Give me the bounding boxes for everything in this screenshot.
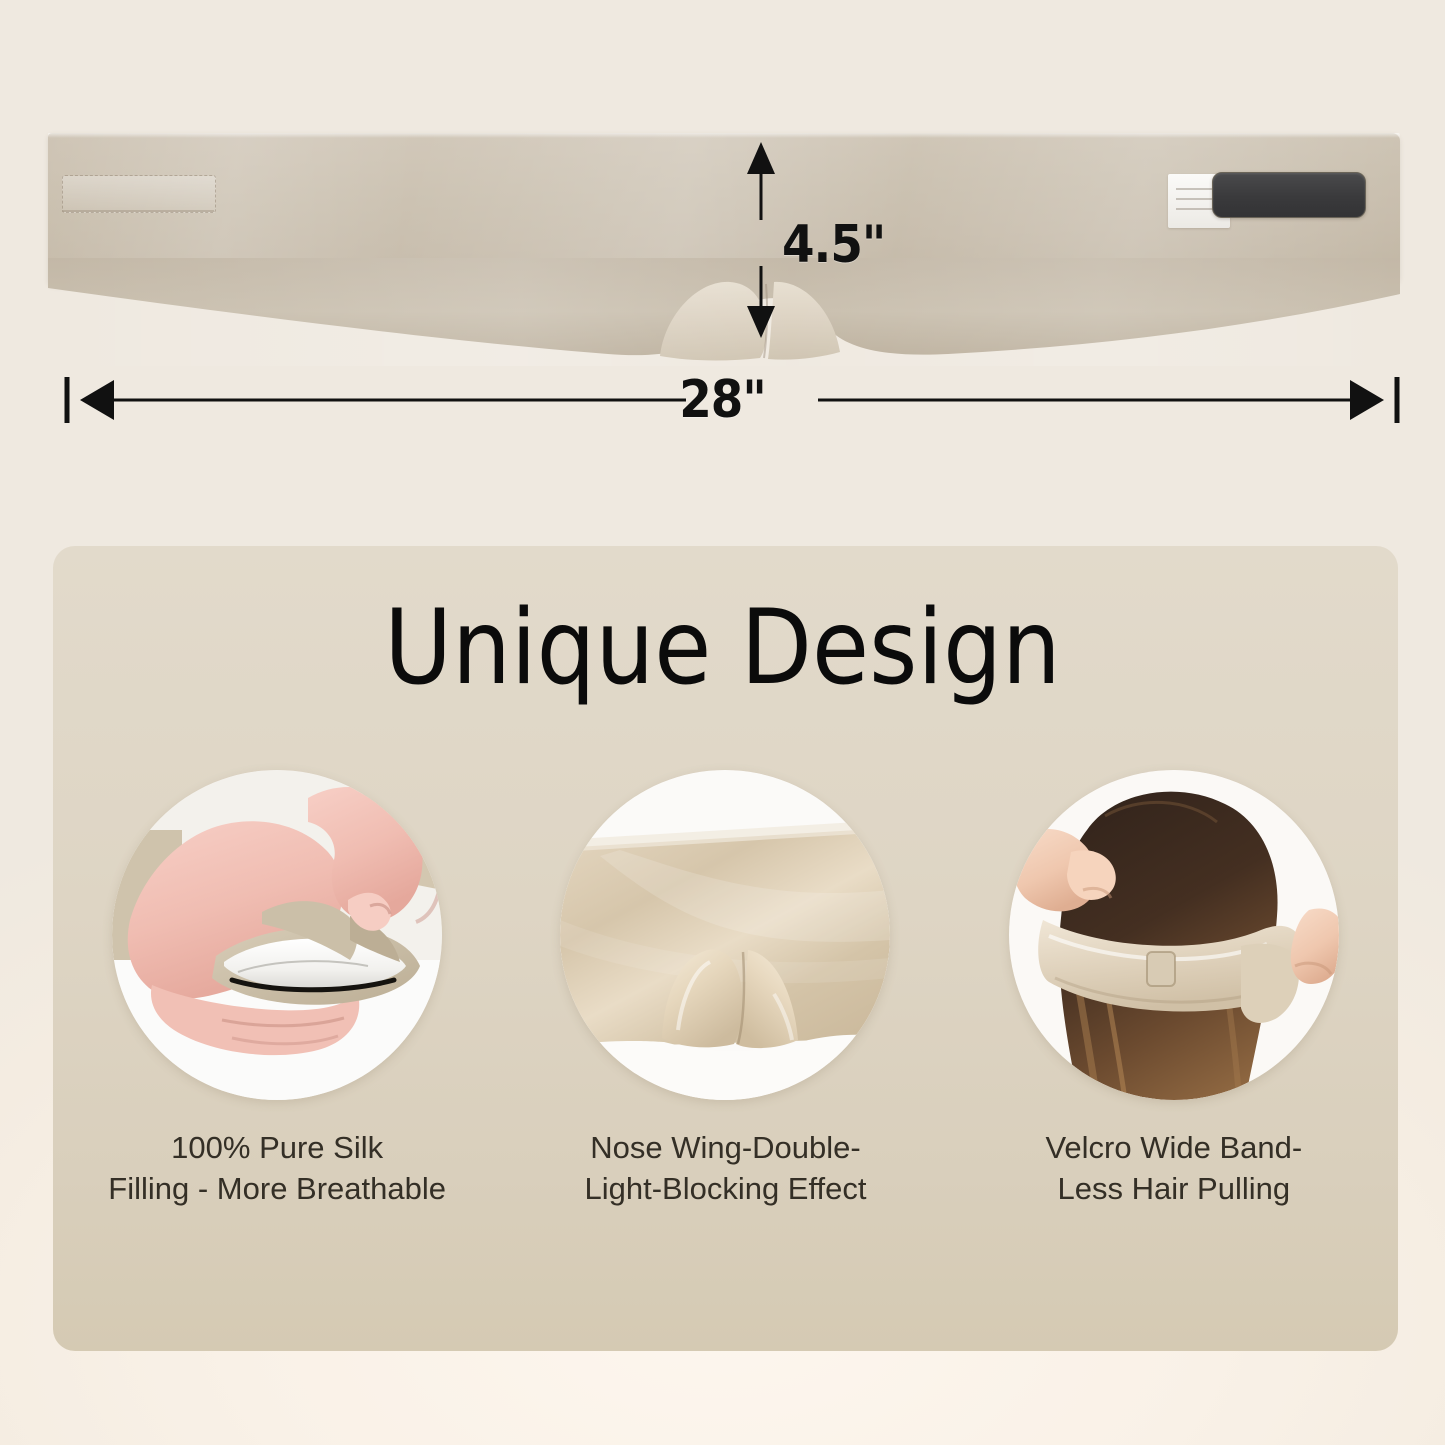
feature-caption-nose-wing: Nose Wing-Double- Light-Blocking Effect [584,1128,866,1210]
panel-title: Unique Design [0,588,1445,708]
velcro-strip [1212,172,1366,218]
feature-item-velcro-wide-band: Velcro Wide Band- Less Hair Pulling [974,770,1374,1210]
feature-caption-velcro-wide-band: Velcro Wide Band- Less Hair Pulling [1045,1128,1302,1210]
feature-item-pure-silk-filling: 100% Pure Silk Filling - More Breathable [77,770,477,1210]
height-dimension-arrow [744,140,778,340]
width-dimension-label: 28" [0,370,1445,430]
feature-item-nose-wing: Nose Wing-Double- Light-Blocking Effect [525,770,925,1210]
elastic-loop-tab [62,175,216,213]
feature-caption-pure-silk-filling: 100% Pure Silk Filling - More Breathable [108,1128,446,1210]
feature-list: 100% Pure Silk Filling - More Breathable [53,770,1398,1330]
feature-image-nose-wing [560,770,890,1100]
height-dimension-label: 4.5" [782,215,885,275]
feature-image-pure-silk-filling [112,770,442,1100]
loop-tab-stitch [62,210,214,212]
feature-image-velcro-wide-band [1009,770,1339,1100]
infographic-root: 4.5" 28" Unique Design [0,0,1445,1445]
product-photo-area: 4.5" 28" [0,0,1445,520]
